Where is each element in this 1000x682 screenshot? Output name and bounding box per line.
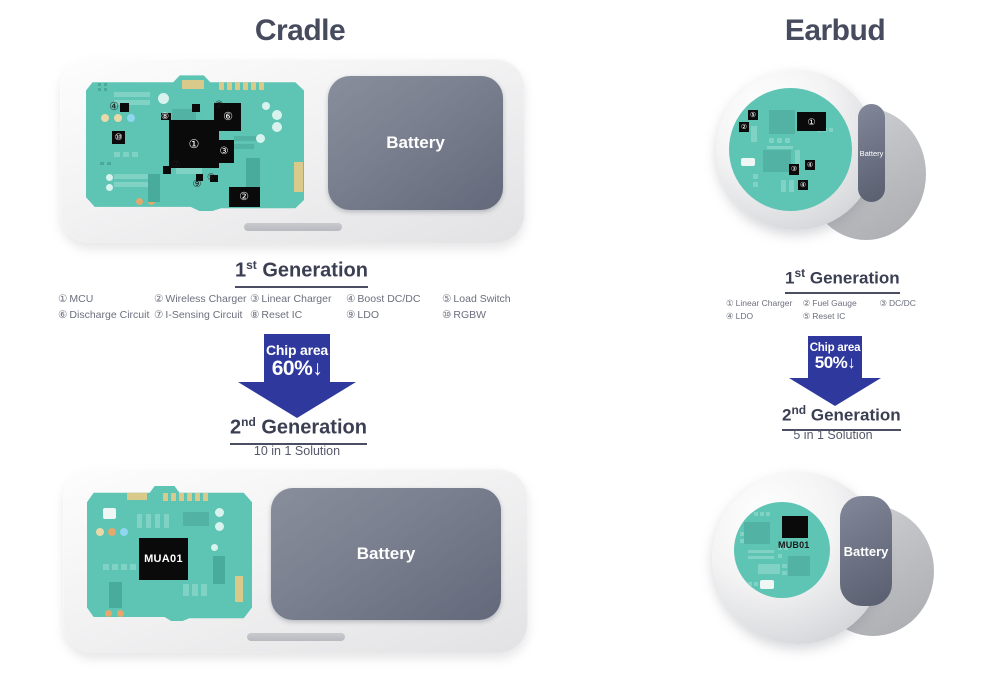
cradle-gen2-battery: Battery (271, 488, 501, 620)
cradle-gen2-number: 2 (230, 417, 241, 439)
cradle-gen1-heading: 1st Generation (235, 258, 368, 288)
cradle-gen2-solution: 10 in 1 Solution (222, 444, 372, 458)
earbud-gen1-battery: Battery (858, 104, 885, 202)
earbud-legend: ①Linear Charger ②Fuel Gauge ③DC/DC ④LDO … (726, 297, 956, 323)
arrow-line1: Chip area (264, 342, 330, 358)
legend-item: ⑦I-Sensing Circuit (154, 307, 250, 323)
cradle-gen2-device: MUA01 Battery (63, 468, 528, 653)
callout-5: ⑤ (204, 171, 218, 184)
earbud-gen2-solution: 5 in 1 Solution (778, 428, 888, 442)
legend-item: ②Wireless Charger (154, 291, 250, 307)
legend-item: ③Linear Charger (250, 291, 346, 307)
legend-item: ②Fuel Gauge (803, 297, 880, 310)
earbud-gen2-heading: 2nd Generation (782, 403, 901, 431)
callout-3: ③ (214, 144, 234, 160)
arrow-body: Chip area 50%↓ (808, 336, 862, 378)
cradle-gen1-device: ① ② ③ ④ ⑤ ⑥ ⑦ ⑦ ⑧ ⑨ ⑩ Battery (60, 58, 525, 243)
legend-item: ⑧Reset IC (250, 307, 346, 323)
arrow-head-icon (789, 378, 881, 406)
earbud-gen2-pcb: MUB01 (734, 502, 830, 598)
callout-2: ② (232, 188, 256, 206)
earbud-gen2-chip-label: MUB01 (778, 540, 810, 550)
earbud-column-title: Earbud (740, 14, 930, 48)
arrow-line2: 60%↓ (264, 357, 330, 381)
legend-item: ⑩RGBW (442, 307, 538, 323)
legend-item: ⑥Discharge Circuit (58, 307, 154, 323)
cradle-gen1-pcb: ① ② ③ ④ ⑤ ⑥ ⑦ ⑦ ⑧ ⑨ ⑩ (86, 74, 304, 211)
legend-item: ①MCU (58, 291, 154, 307)
cradle-gen2-word: Generation (261, 417, 367, 439)
earbud-gen2-battery: Battery (840, 496, 892, 606)
legend-item: ⑨LDO (346, 307, 442, 323)
earbud-callout-5: ⑤ (748, 110, 758, 120)
cradle-gen2-ordinal: nd (241, 415, 256, 429)
diagram-canvas: Cradle Earbud (0, 0, 1000, 682)
earbud-chip-area-arrow: Chip area 50%↓ (789, 336, 881, 406)
earbud-gen1-heading: 1st Generation (785, 266, 900, 294)
legend-item: ⑤Reset IC (803, 310, 880, 323)
cradle-lid-lip (244, 223, 342, 231)
cradle-chip-isense-a (192, 104, 200, 112)
arrow-body: Chip area 60%↓ (264, 334, 330, 382)
cradle-chip-boost (120, 103, 129, 112)
cradle-gen2-chip-label: MUA01 (144, 553, 183, 565)
earbud-gen2-device: MUB01 Battery (700, 466, 948, 656)
earbud-callout-4b: ④ (798, 180, 808, 190)
callout-7a: ⑦ (212, 100, 226, 112)
legend-item: ①Linear Charger (726, 297, 803, 310)
callout-9: ⑨ (190, 179, 204, 191)
cradle-lid-lip (247, 633, 345, 641)
cradle-column-title: Cradle (190, 14, 410, 48)
arrow-line2: 50%↓ (808, 353, 862, 373)
earbud-callout-4a: ④ (805, 160, 815, 170)
cradle-gen2-pcb: MUA01 (87, 486, 252, 621)
earbud-gen1-pcb: ① ② ③ ④ ④ ⑤ (729, 88, 852, 211)
earbud-callout-3: ③ (789, 164, 799, 175)
cradle-gen2-heading: 2nd Generation (230, 415, 367, 445)
earbud-gen1-device: ① ② ③ ④ ④ ⑤ Battery (702, 62, 950, 252)
callout-10: ⑩ (112, 131, 125, 144)
legend-item: ⑤Load Switch (442, 291, 538, 307)
legend-item: ④LDO (726, 310, 803, 323)
cradle-gen1-number: 1 (235, 260, 246, 282)
earbud-gen1-ordinal: st (794, 266, 805, 280)
cradle-chip-area-arrow: Chip area 60%↓ (238, 334, 356, 418)
cradle-gen1-word: Generation (262, 260, 368, 282)
cradle-gen1-battery: Battery (328, 76, 503, 210)
callout-7b: ⑦ (169, 159, 183, 171)
callout-4: ④ (107, 100, 121, 114)
cradle-legend: ①MCU ②Wireless Charger ③Linear Charger ④… (58, 291, 538, 324)
earbud-gen2-word: Generation (811, 406, 901, 425)
legend-item: ③DC/DC (879, 297, 956, 310)
callout-1: ① (182, 134, 206, 154)
earbud-callout-1: ① (797, 114, 826, 130)
earbud-callout-2: ② (739, 122, 749, 132)
legend-item: ④Boost DC/DC (346, 291, 442, 307)
earbud-gen1-word: Generation (810, 269, 900, 288)
callout-8: ⑧ (158, 110, 172, 123)
earbud-gen2-ordinal: nd (791, 403, 806, 417)
cradle-gen1-ordinal: st (246, 258, 257, 272)
arrow-head-icon (238, 382, 356, 418)
cradle-gen2-main-chip: MUA01 (139, 538, 188, 580)
earbud-gen2-main-chip (782, 516, 808, 538)
